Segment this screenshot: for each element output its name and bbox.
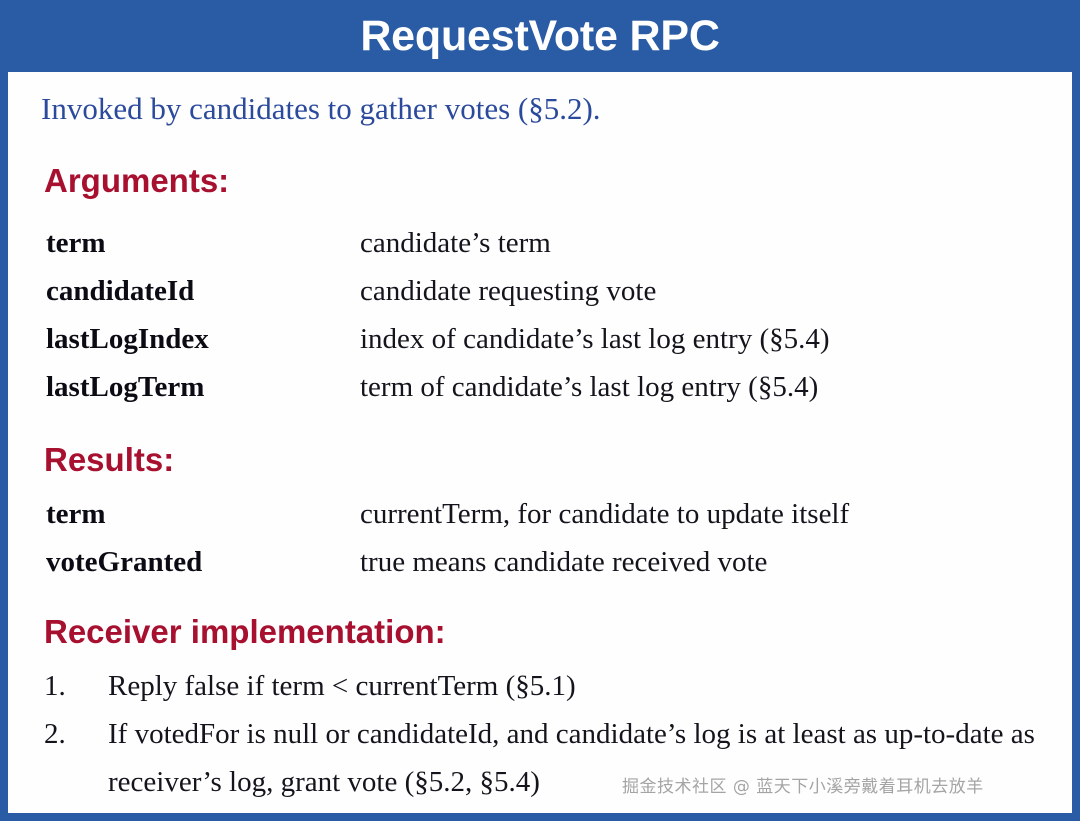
list-item: 1. Reply false if term < currentTerm (§5… xyxy=(8,662,1072,710)
argument-name: lastLogIndex xyxy=(46,315,209,363)
intro-text: Invoked by candidates to gather votes (§… xyxy=(41,92,601,126)
result-desc: currentTerm, for candidate to update its… xyxy=(360,490,849,538)
result-name: term xyxy=(46,490,106,538)
receiver-steps: 1. Reply false if term < currentTerm (§5… xyxy=(8,662,1072,806)
step-text: If votedFor is null or candidateId, and … xyxy=(108,718,1035,798)
step-number: 1. xyxy=(44,662,66,710)
list-item: 2. If votedFor is null or candidateId, a… xyxy=(8,710,1072,806)
rpc-spec-slide: RequestVote RPC Invoked by candidates to… xyxy=(0,0,1080,821)
argument-desc: index of candidate’s last log entry (§5.… xyxy=(360,315,830,363)
table-row: lastLogTerm term of candidate’s last log… xyxy=(8,363,1072,411)
table-row: candidateId candidate requesting vote xyxy=(8,267,1072,315)
results-rows: term currentTerm, for candidate to updat… xyxy=(8,490,1072,586)
argument-desc: candidate’s term xyxy=(360,219,551,267)
step-number: 2. xyxy=(44,710,66,758)
table-row: term currentTerm, for candidate to updat… xyxy=(8,490,1072,538)
title-bar: RequestVote RPC xyxy=(8,0,1072,72)
argument-name: candidateId xyxy=(46,267,194,315)
receiver-implementation-heading: Receiver implementation: xyxy=(44,615,446,648)
step-text: Reply false if term < currentTerm (§5.1) xyxy=(108,670,576,702)
arguments-heading: Arguments: xyxy=(44,164,229,197)
page-title: RequestVote RPC xyxy=(360,15,719,58)
results-heading: Results: xyxy=(44,443,174,476)
table-row: lastLogIndex index of candidate’s last l… xyxy=(8,315,1072,363)
result-name: voteGranted xyxy=(46,538,202,586)
slide-frame: RequestVote RPC Invoked by candidates to… xyxy=(0,0,1080,821)
argument-name: lastLogTerm xyxy=(46,363,204,411)
table-row: term candidate’s term xyxy=(8,219,1072,267)
argument-desc: candidate requesting vote xyxy=(360,267,656,315)
arguments-rows: term candidate’s term candidateId candid… xyxy=(8,219,1072,411)
table-row: voteGranted true means candidate receive… xyxy=(8,538,1072,586)
spec-card: Invoked by candidates to gather votes (§… xyxy=(8,72,1072,813)
argument-desc: term of candidate’s last log entry (§5.4… xyxy=(360,363,818,411)
argument-name: term xyxy=(46,219,106,267)
result-desc: true means candidate received vote xyxy=(360,538,767,586)
